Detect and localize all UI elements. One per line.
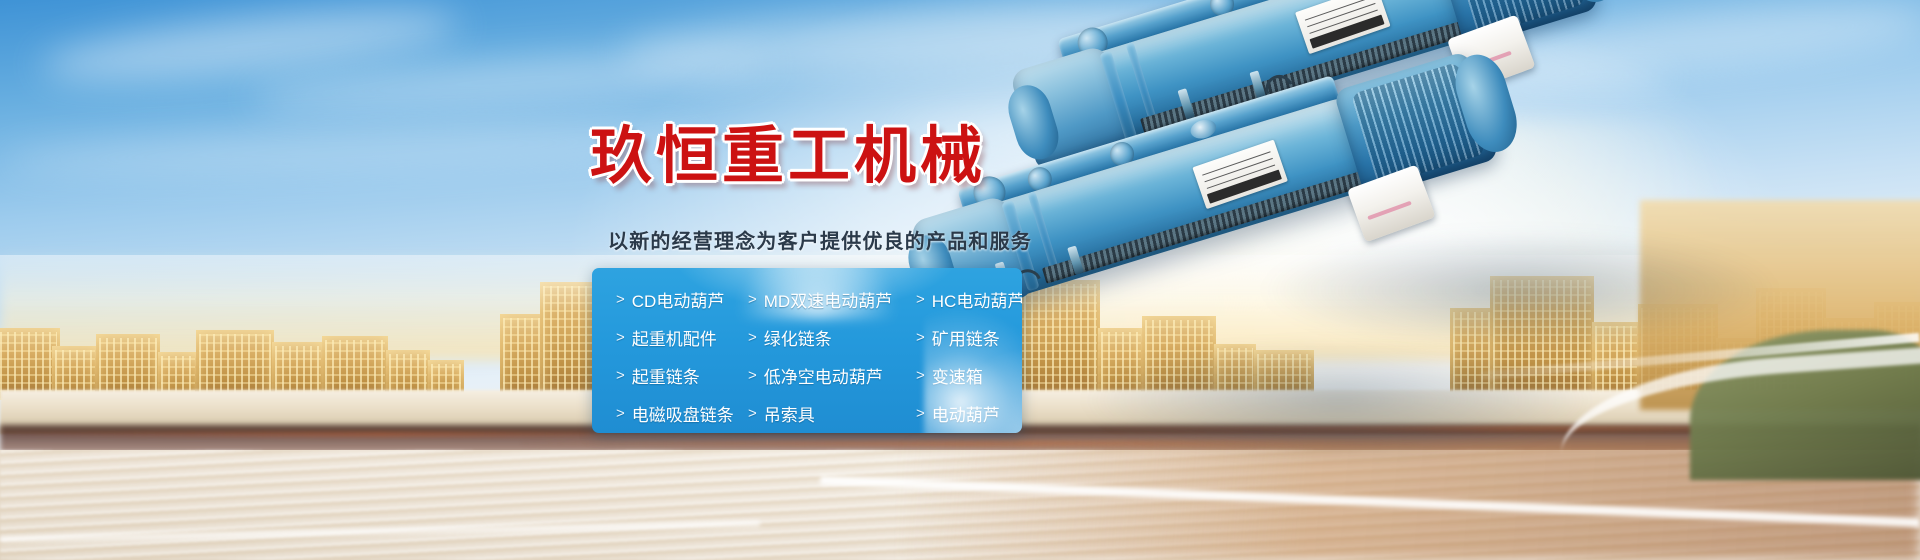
chevron-right-icon: > bbox=[748, 406, 757, 421]
product-link-label: 绿化链条 bbox=[764, 325, 832, 350]
chevron-right-icon: > bbox=[916, 330, 925, 345]
product-link-electric-hoist[interactable]: > 电动葫芦 bbox=[916, 401, 1022, 426]
chevron-right-icon: > bbox=[916, 292, 925, 307]
product-links-panel: > CD电动葫芦 > MD双速电动葫芦 > HC电动葫芦 > 起重机配件 > 绿… bbox=[592, 268, 1022, 433]
chevron-right-icon: > bbox=[916, 368, 925, 383]
page-subtitle: 以新的经营理念为客户提供优良的产品和服务 bbox=[608, 225, 1032, 254]
product-link-label: 矿用链条 bbox=[932, 325, 1000, 350]
product-link-label: CD电动葫芦 bbox=[632, 287, 725, 312]
product-link-cd-hoist[interactable]: > CD电动葫芦 bbox=[616, 287, 748, 312]
product-link-md-dual-speed-hoist[interactable]: > MD双速电动葫芦 bbox=[748, 287, 916, 312]
product-link-slings[interactable]: > 吊索具 bbox=[748, 401, 916, 426]
chevron-right-icon: > bbox=[748, 368, 757, 383]
product-link-gearbox[interactable]: > 变速箱 bbox=[916, 363, 1022, 388]
chevron-right-icon: > bbox=[616, 406, 625, 421]
product-link-low-headroom-hoist[interactable]: > 低净空电动葫芦 bbox=[748, 363, 916, 388]
product-link-lifting-chain[interactable]: > 起重链条 bbox=[616, 363, 748, 388]
product-link-label: 起重链条 bbox=[632, 363, 700, 388]
product-link-mining-chain[interactable]: > 矿用链条 bbox=[916, 325, 1022, 350]
product-link-crane-parts[interactable]: > 起重机配件 bbox=[616, 325, 748, 350]
product-link-magnetic-chuck-chain[interactable]: > 电磁吸盘链条 bbox=[616, 401, 748, 426]
product-link-label: HC电动葫芦 bbox=[932, 287, 1022, 312]
product-link-label: 电磁吸盘链条 bbox=[632, 401, 734, 426]
chevron-right-icon: > bbox=[616, 292, 625, 307]
product-link-label: 变速箱 bbox=[932, 363, 983, 388]
chevron-right-icon: > bbox=[616, 368, 625, 383]
product-links-list: > CD电动葫芦 > MD双速电动葫芦 > HC电动葫芦 > 起重机配件 > 绿… bbox=[592, 268, 1022, 433]
chevron-right-icon: > bbox=[748, 330, 757, 345]
page-title: 玖恒重工机械 bbox=[590, 125, 986, 187]
product-link-label: 低净空电动葫芦 bbox=[764, 363, 883, 388]
chevron-right-icon: > bbox=[616, 330, 625, 345]
product-link-label: MD双速电动葫芦 bbox=[764, 287, 892, 312]
product-link-hc-hoist[interactable]: > HC电动葫芦 bbox=[916, 287, 1022, 312]
hero-banner: 玖恒重工机械 以新的经营理念为客户提供优良的产品和服务 > CD电动葫芦 > M… bbox=[0, 0, 1920, 560]
product-link-label: 起重机配件 bbox=[632, 325, 717, 350]
electric-hoist-photo bbox=[1020, 40, 1920, 480]
product-link-landscaping-chain[interactable]: > 绿化链条 bbox=[748, 325, 916, 350]
product-link-label: 电动葫芦 bbox=[932, 401, 1000, 426]
chevron-right-icon: > bbox=[748, 292, 757, 307]
product-link-label: 吊索具 bbox=[764, 401, 815, 426]
chevron-right-icon: > bbox=[916, 406, 925, 421]
